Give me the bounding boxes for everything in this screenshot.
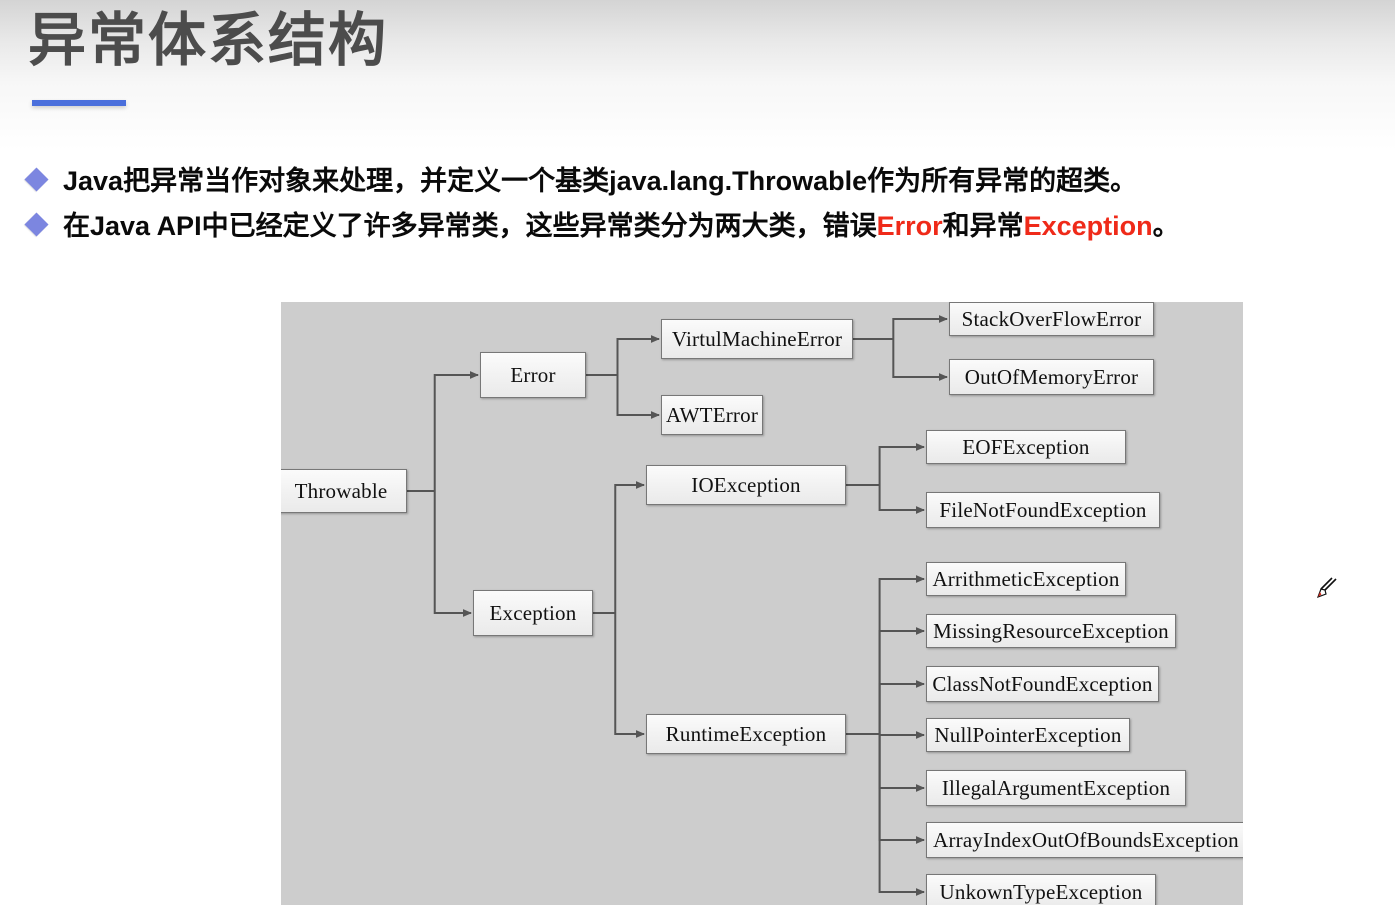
diagram-node-label: Throwable xyxy=(295,479,388,504)
list-item: 在Java API中已经定义了许多异常类，这些异常类分为两大类，错误Error和… xyxy=(0,205,1395,250)
diagram-node-label: UnkownTypeException xyxy=(940,880,1143,905)
diagram-node-label: ArrithmeticException xyxy=(932,567,1119,592)
diagram-node-label: MissingResourceException xyxy=(933,619,1169,644)
diagram-node-label: StackOverFlowError xyxy=(962,307,1142,332)
bullet-segment-0: Java把异常当作对象来处理，并定义一个基类java.lang.Throwabl… xyxy=(63,166,1137,196)
bullet-list: Java把异常当作对象来处理，并定义一个基类java.lang.Throwabl… xyxy=(0,160,1395,250)
diagram-node-label: RuntimeException xyxy=(666,722,827,747)
pencil-cursor xyxy=(1312,577,1338,603)
diagram-node-filenotfound: FileNotFoundException xyxy=(926,492,1160,528)
bullet-segment-4: 。 xyxy=(1153,211,1180,241)
diagram-node-nullpointer: NullPointerException xyxy=(926,718,1130,752)
diagram-node-throwable: Throwable xyxy=(281,469,407,513)
bullet-text-0: Java把异常当作对象来处理，并定义一个基类java.lang.Throwabl… xyxy=(63,160,1137,202)
diamond-bullet-icon xyxy=(24,212,48,236)
diagram-node-illegalarg: IllegalArgumentException xyxy=(926,770,1186,806)
diagram-node-label: Exception xyxy=(490,601,577,626)
diagram-node-awterror: AWTError xyxy=(661,395,763,435)
diagram-node-eofexception: EOFException xyxy=(926,430,1126,464)
diagram-node-label: IOException xyxy=(691,473,801,498)
diagram-node-error: Error xyxy=(480,352,586,398)
exception-hierarchy-diagram: ThrowableErrorExceptionVirtulMachineErro… xyxy=(281,302,1243,905)
diagram-node-runtimeexc: RuntimeException xyxy=(646,714,846,754)
list-item: Java把异常当作对象来处理，并定义一个基类java.lang.Throwabl… xyxy=(0,160,1395,205)
diagram-node-outofmemory: OutOfMemoryError xyxy=(949,359,1154,395)
diagram-node-classnotfound: ClassNotFoundException xyxy=(926,666,1159,702)
title-underline-rule xyxy=(32,100,126,106)
diagram-node-label: AWTError xyxy=(666,403,758,428)
bullet-text-1: 在Java API中已经定义了许多异常类，这些异常类分为两大类，错误Error和… xyxy=(63,205,1180,247)
bullet-segment-2: 和异常 xyxy=(943,211,1024,241)
diagram-node-vmerror: VirtulMachineError xyxy=(661,319,853,359)
diagram-node-label: FileNotFoundException xyxy=(939,498,1146,523)
diagram-node-label: IllegalArgumentException xyxy=(942,776,1170,801)
diagram-node-stackoverflow: StackOverFlowError xyxy=(949,302,1154,336)
diagram-node-label: VirtulMachineError xyxy=(672,327,842,352)
diagram-node-label: Error xyxy=(510,363,555,388)
diagram-node-label: OutOfMemoryError xyxy=(965,365,1139,390)
diagram-node-unkowntype: UnkownTypeException xyxy=(926,874,1156,905)
page-title: 异常体系结构 xyxy=(28,8,388,75)
bullet-segment-1: Error xyxy=(877,211,943,241)
diagram-node-label: NullPointerException xyxy=(934,723,1121,748)
diagram-node-missingres: MissingResourceException xyxy=(926,614,1176,648)
diagram-node-label: ArrayIndexOutOfBoundsException xyxy=(933,828,1239,853)
diagram-node-label: EOFException xyxy=(962,435,1089,460)
diagram-node-ioexception: IOException xyxy=(646,465,846,505)
bullet-segment-3: Exception xyxy=(1024,211,1153,241)
diagram-node-exception: Exception xyxy=(473,590,593,636)
diagram-node-layer: ThrowableErrorExceptionVirtulMachineErro… xyxy=(281,302,1243,905)
diamond-bullet-icon xyxy=(24,167,48,191)
diagram-node-arrayindex: ArrayIndexOutOfBoundsException xyxy=(926,822,1243,858)
diagram-node-arithmetic: ArrithmeticException xyxy=(926,562,1126,596)
bullet-segment-0: 在Java API中已经定义了许多异常类，这些异常类分为两大类，错误 xyxy=(63,211,877,241)
diagram-node-label: ClassNotFoundException xyxy=(932,672,1152,697)
